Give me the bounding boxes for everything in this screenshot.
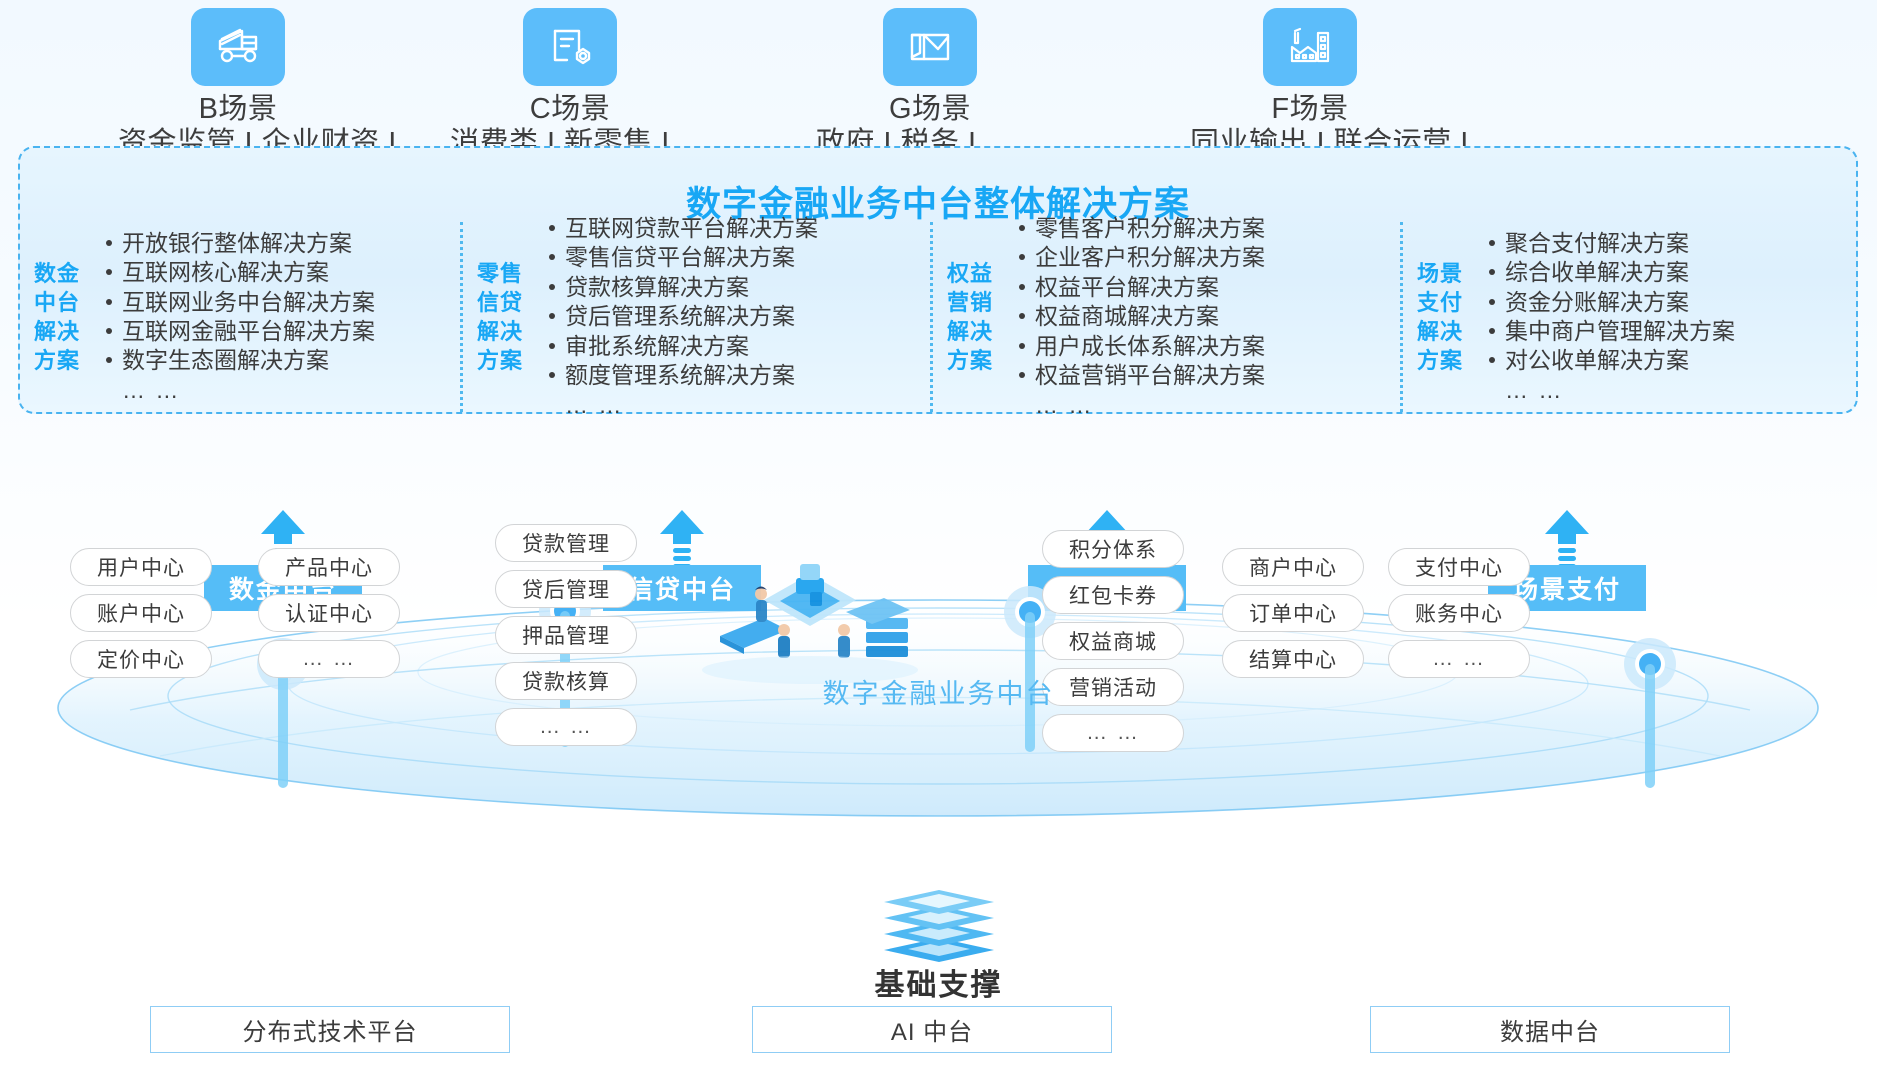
- solution-item-more: … …: [545, 391, 930, 420]
- base-platform-ai[interactable]: AI 中台: [752, 1006, 1112, 1053]
- solution-column-lingshou-xindai[interactable]: 零售 信贷 解决 方案 互联网贷款平台解决方案 零售信贷平台解决方案 贷款核算解…: [460, 222, 930, 412]
- base-support-label: 基础支撑: [0, 960, 1877, 1004]
- solution-item: 用户成长体系解决方案: [1015, 332, 1400, 361]
- solution-item-list: 开放银行整体解决方案 互联网核心解决方案 互联网业务中台解决方案 互联网金融平台…: [94, 229, 460, 406]
- solution-item: 零售信贷平台解决方案: [545, 243, 930, 272]
- solution-column-label: 场景 支付 解决 方案: [1403, 259, 1477, 375]
- solution-column-changjing-zhifu[interactable]: 场景 支付 解决 方案 聚合支付解决方案 综合收单解决方案 资金分账解决方案 集…: [1400, 222, 1856, 412]
- solution-item: 审批系统解决方案: [545, 332, 930, 361]
- solution-item-more: … …: [102, 376, 460, 405]
- solution-item-list: 聚合支付解决方案 综合收单解决方案 资金分账解决方案 集中商户管理解决方案 对公…: [1477, 229, 1856, 406]
- scene-code: G场景: [810, 92, 1050, 126]
- capability-pill[interactable]: 积分体系: [1042, 530, 1184, 568]
- capability-pill[interactable]: 用户中心: [70, 548, 212, 586]
- solution-item: 零售客户积分解决方案: [1015, 214, 1400, 243]
- diagram-canvas: B场景 资金监管 I 企业财资 I …… C场景 消费类 I 新零售 I ……: [0, 0, 1877, 1070]
- capability-pill[interactable]: 贷款管理: [495, 524, 637, 562]
- solution-item-more: … …: [1015, 391, 1400, 420]
- capability-pill[interactable]: 订单中心: [1222, 594, 1364, 632]
- truck-cargo-icon: [191, 8, 285, 86]
- solution-item: 数字生态圈解决方案: [102, 346, 460, 375]
- capability-pill[interactable]: 支付中心: [1388, 548, 1530, 586]
- solution-column-quanyi-yingxiao[interactable]: 权益 营销 解决 方案 零售客户积分解决方案 企业客户积分解决方案 权益平台解决…: [930, 222, 1400, 412]
- capability-pill[interactable]: 押品管理: [495, 616, 637, 654]
- solution-item: 权益平台解决方案: [1015, 273, 1400, 302]
- scene-header-row: B场景 资金监管 I 企业财资 I …… C场景 消费类 I 新零售 I ……: [0, 8, 1877, 168]
- scene-card-b[interactable]: B场景 资金监管 I 企业财资 I ……: [118, 8, 358, 160]
- solution-item: 聚合支付解决方案: [1485, 229, 1856, 258]
- factory-icon: [1263, 8, 1357, 86]
- solution-panel-title: 数字金融业务中台整体解决方案: [20, 176, 1856, 227]
- solution-column-label: 零售 信贷 解决 方案: [463, 259, 537, 375]
- central-illustration: [660, 540, 960, 690]
- capability-pill[interactable]: 权益商城: [1042, 622, 1184, 660]
- base-platform-distributed[interactable]: 分布式技术平台: [150, 1006, 510, 1053]
- solution-item: 互联网核心解决方案: [102, 258, 460, 287]
- solution-item: 互联网贷款平台解决方案: [545, 214, 930, 243]
- solution-item-more: … …: [1485, 376, 1856, 405]
- capability-pill[interactable]: 账户中心: [70, 594, 212, 632]
- connector-pin-zhifu: [1620, 638, 1680, 798]
- solution-column-label: 数金 中台 解决 方案: [20, 259, 94, 375]
- solution-item: 互联网金融平台解决方案: [102, 317, 460, 346]
- scene-card-c[interactable]: C场景 消费类 I 新零售 I ……: [450, 8, 690, 160]
- document-review-icon: [523, 8, 617, 86]
- solution-item: 企业客户积分解决方案: [1015, 243, 1400, 272]
- government-banner-icon: [883, 8, 977, 86]
- solution-item: 额度管理系统解决方案: [545, 361, 930, 390]
- capability-pill[interactable]: 贷后管理: [495, 570, 637, 608]
- scene-code: C场景: [450, 92, 690, 126]
- scene-code: B场景: [118, 92, 358, 126]
- solution-columns: 数金 中台 解决 方案 开放银行整体解决方案 互联网核心解决方案 互联网业务中台…: [20, 222, 1860, 412]
- solution-item: 开放银行整体解决方案: [102, 229, 460, 258]
- solution-column-label: 权益 营销 解决 方案: [933, 259, 1007, 375]
- solution-item-list: 零售客户积分解决方案 企业客户积分解决方案 权益平台解决方案 权益商城解决方案 …: [1007, 214, 1400, 420]
- solution-item: 综合收单解决方案: [1485, 258, 1856, 287]
- solution-item-list: 互联网贷款平台解决方案 零售信贷平台解决方案 贷款核算解决方案 贷后管理系统解决…: [537, 214, 930, 420]
- solution-item: 权益商城解决方案: [1015, 302, 1400, 331]
- solution-item: 贷后管理系统解决方案: [545, 302, 930, 331]
- solution-item: 贷款核算解决方案: [545, 273, 930, 302]
- solution-item: 对公收单解决方案: [1485, 346, 1856, 375]
- capability-pill[interactable]: 商户中心: [1222, 548, 1364, 586]
- capability-pill-more[interactable]: … …: [1042, 714, 1184, 752]
- solution-item: 集中商户管理解决方案: [1485, 317, 1856, 346]
- solution-column-shujin[interactable]: 数金 中台 解决 方案 开放银行整体解决方案 互联网核心解决方案 互联网业务中台…: [20, 222, 460, 412]
- capability-pill[interactable]: 认证中心: [258, 594, 400, 632]
- scene-card-g[interactable]: G场景 政府 I 税务 I ……: [810, 8, 1050, 160]
- solution-panel: 数字金融业务中台整体解决方案 数金 中台 解决 方案 开放银行整体解决方案 互联…: [18, 146, 1858, 414]
- field-caption: 数字金融业务中台: [0, 672, 1877, 711]
- solution-item: 互联网业务中台解决方案: [102, 288, 460, 317]
- scene-card-f[interactable]: F场景 同业输出 I 联合运营 I ……: [1190, 8, 1430, 160]
- base-platform-data[interactable]: 数据中台: [1370, 1006, 1730, 1053]
- scene-code: F场景: [1190, 92, 1430, 126]
- capability-pill-more[interactable]: … …: [495, 708, 637, 746]
- solution-item: 权益营销平台解决方案: [1015, 361, 1400, 390]
- capability-pill[interactable]: 账务中心: [1388, 594, 1530, 632]
- layers-stack-icon: [866, 884, 1012, 962]
- capability-pill[interactable]: 红包卡券: [1042, 576, 1184, 614]
- solution-item: 资金分账解决方案: [1485, 288, 1856, 317]
- capability-pill[interactable]: 产品中心: [258, 548, 400, 586]
